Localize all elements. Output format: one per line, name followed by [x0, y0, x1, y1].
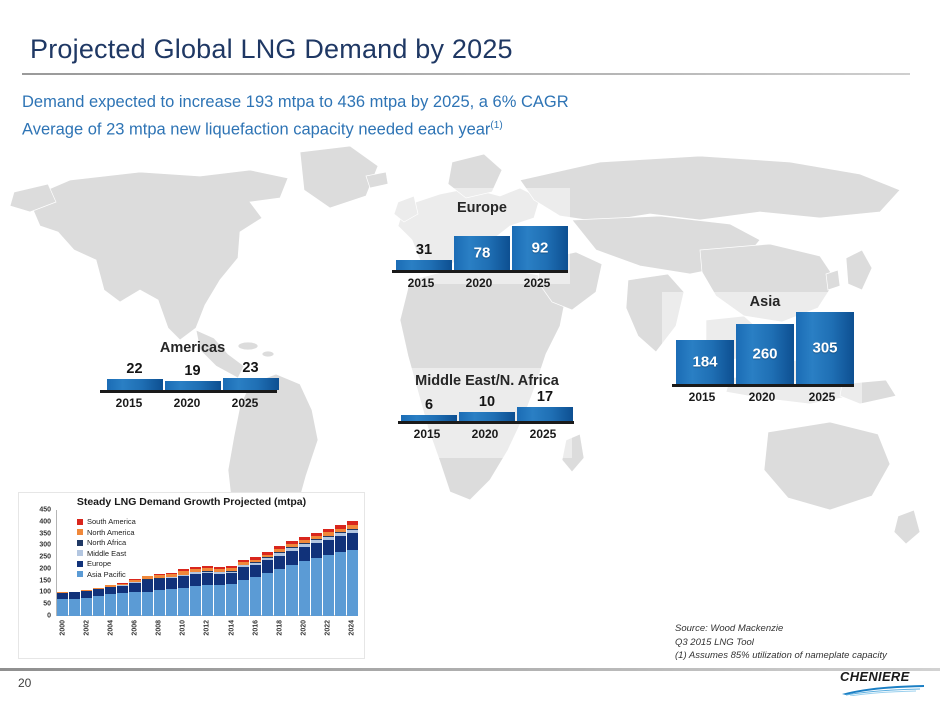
callout-asia-title: Asia	[672, 294, 858, 310]
xlabel-2025: 2025	[514, 427, 572, 441]
bar-value-2020: 19	[184, 364, 200, 379]
chart-bar-segment	[250, 565, 261, 577]
callout-menafrica-title: Middle East/N. Africa	[398, 373, 576, 389]
bar-menafrica-2020	[459, 412, 515, 421]
chart-bar	[311, 510, 322, 616]
bar-value-2025: 305	[796, 340, 854, 357]
chart-bar-segment	[154, 590, 165, 616]
chart-bar	[323, 510, 334, 616]
chart-bar-segment	[93, 596, 104, 616]
chart-y-tick: 100	[21, 589, 51, 596]
chart-x-tick: 2020	[299, 618, 310, 658]
chart-x-tick	[190, 618, 201, 658]
bar-asia-2020: 260	[736, 324, 794, 384]
chart-x-tick-label: 2018	[276, 620, 283, 636]
bar-group-2025: 92	[511, 226, 569, 270]
bar-value-2015: 184	[676, 354, 734, 371]
chart-bar	[286, 510, 297, 616]
chart-x-tick	[311, 618, 322, 658]
chart-legend-label: Asia Pacific	[87, 570, 126, 579]
chart-x-tick: 2008	[154, 618, 165, 658]
map-korea	[826, 270, 840, 290]
bar-group-2020: 260	[735, 324, 795, 384]
chart-y-tick: 400	[21, 518, 51, 525]
chart-y-axis: 050100150200250300350400450	[19, 510, 55, 616]
chart-bar-segment	[105, 587, 116, 594]
chart-bar-segment	[142, 592, 153, 616]
chart-bar-segment	[202, 585, 213, 616]
chart-bar	[202, 510, 213, 616]
bar-asia-2015: 184	[676, 340, 734, 384]
chart-bar-segment	[311, 558, 322, 616]
chart-y-tick: 350	[21, 530, 51, 537]
chart-bar-segment	[129, 592, 140, 616]
bar-group-2020: 19	[164, 364, 222, 390]
chart-bar-segment	[238, 567, 249, 580]
subtitle-line-1: Demand expected to increase 193 mtpa to …	[22, 90, 782, 114]
chart-x-tick: 2002	[81, 618, 92, 658]
cheniere-wave-icon	[840, 685, 926, 696]
chart-x-tick: 2014	[226, 618, 237, 658]
chart-x-labels: 2000200220042006200820102012201420162018…	[57, 618, 358, 658]
chart-x-tick	[93, 618, 104, 658]
callout-americas-title: Americas	[100, 340, 285, 356]
chart-bar-segment	[190, 586, 201, 616]
bar-americas-2015	[107, 379, 163, 390]
page-number: 20	[18, 676, 31, 690]
chart-bar	[178, 510, 189, 616]
chart-y-tick: 150	[21, 577, 51, 584]
stacked-bar-chart: Steady LNG Demand Growth Projected (mtpa…	[18, 492, 365, 659]
chart-legend-swatch	[77, 519, 83, 525]
map-australia	[764, 422, 890, 510]
chart-x-tick	[238, 618, 249, 658]
chart-bar-segment	[335, 536, 346, 552]
callout-americas-bars: 22 19 23	[100, 358, 285, 390]
chart-bar	[274, 510, 285, 616]
chart-bar	[166, 510, 177, 616]
bar-value-2015: 31	[416, 243, 432, 258]
bar-value-2020: 10	[479, 395, 495, 410]
chart-bar-segment	[323, 555, 334, 616]
chart-bar-segment	[274, 556, 285, 569]
callout-menafrica-xlabels: 2015 2020 2025	[398, 424, 576, 441]
chart-x-tick: 2024	[347, 618, 358, 658]
chart-x-tick: 2000	[57, 618, 68, 658]
chart-legend-item: Europe	[77, 559, 136, 568]
chart-y-tick: 50	[21, 601, 51, 608]
bar-group-2025: 23	[222, 361, 280, 390]
chart-x-tick-label: 2016	[252, 620, 259, 636]
chart-bar-segment	[311, 543, 322, 558]
bar-menafrica-2015	[401, 415, 457, 421]
bar-group-2015: 31	[395, 243, 453, 270]
bar-menafrica-2025	[517, 407, 573, 421]
chart-bar	[299, 510, 310, 616]
chart-x-tick	[214, 618, 225, 658]
map-russia	[520, 156, 900, 222]
chart-x-tick-label: 2004	[107, 620, 114, 636]
chart-bar-segment	[166, 589, 177, 616]
bar-value-2020: 78	[454, 245, 510, 262]
chart-bar-segment	[93, 589, 104, 596]
callout-europe: Europe 31 78 92 2015 2020 2025	[392, 200, 572, 290]
chart-bar	[142, 510, 153, 616]
chart-bar	[154, 510, 165, 616]
chart-x-tick	[262, 618, 273, 658]
chart-bar-segment	[190, 574, 201, 586]
footer-divider	[0, 668, 940, 671]
chart-bar-segment	[347, 550, 358, 616]
map-north-america	[28, 170, 288, 340]
source-line-1: Source: Wood Mackenzie	[675, 622, 887, 636]
chart-bar-segment	[286, 565, 297, 616]
xlabel-2015: 2015	[398, 427, 456, 441]
xlabel-2020: 2020	[158, 396, 216, 410]
chart-bar	[214, 510, 225, 616]
bar-value-2015: 6	[425, 398, 433, 413]
slide: Projected Global LNG Demand by 2025 Dema…	[0, 0, 940, 705]
callout-asia-bars: 184 260 305	[672, 312, 858, 384]
subtitle-line-2: Average of 23 mtpa new liquefaction capa…	[22, 114, 782, 142]
chart-bar-segment	[299, 561, 310, 616]
chart-title: Steady LNG Demand Growth Projected (mtpa…	[19, 496, 364, 508]
bar-group-2020: 78	[453, 236, 511, 270]
chart-y-tick: 450	[21, 507, 51, 514]
callout-europe-xlabels: 2015 2020 2025	[392, 273, 572, 290]
chart-legend-swatch	[77, 561, 83, 567]
chart-legend-swatch	[77, 571, 83, 577]
bar-group-2025: 17	[516, 390, 574, 421]
chart-x-tick	[286, 618, 297, 658]
chart-legend-item: Asia Pacific	[77, 570, 136, 579]
chart-bar-segment	[335, 552, 346, 616]
bar-europe-2015	[396, 260, 452, 270]
bar-group-2015: 6	[400, 398, 458, 421]
chart-bar	[262, 510, 273, 616]
chart-bar-segment	[286, 551, 297, 565]
callout-menafrica-bars: 6 10 17	[398, 391, 576, 421]
chart-bar-segment	[105, 594, 116, 616]
cheniere-logo-text: CHENIERE	[840, 670, 926, 683]
chart-bar-segment	[154, 579, 165, 589]
chart-bar-segment	[202, 573, 213, 585]
chart-bar-segment	[81, 598, 92, 616]
chart-bar-segment	[226, 573, 237, 583]
bar-group-2025: 305	[795, 312, 855, 384]
chart-bar	[190, 510, 201, 616]
chart-bar-segment	[178, 576, 189, 588]
chart-legend-item: South America	[77, 517, 136, 526]
chart-bar	[347, 510, 358, 616]
xlabel-2020: 2020	[456, 427, 514, 441]
chart-x-tick-label: 2000	[59, 620, 66, 636]
chart-x-tick	[117, 618, 128, 658]
bar-value-2025: 92	[512, 240, 568, 257]
chart-x-tick: 2016	[250, 618, 261, 658]
bar-group-2015: 184	[675, 340, 735, 384]
bar-europe-2025: 92	[512, 226, 568, 270]
chart-bar-segment	[57, 599, 68, 616]
bar-americas-2025	[223, 378, 279, 390]
subtitle-block: Demand expected to increase 193 mtpa to …	[22, 90, 782, 142]
chart-bar-segment	[250, 577, 261, 616]
chart-x-tick-label: 2012	[204, 620, 211, 636]
chart-bar-segment	[226, 584, 237, 617]
chart-bar-segment	[81, 591, 92, 598]
chart-bar	[57, 510, 68, 616]
callout-middle-east-n-africa: Middle East/N. Africa 6 10 17 2015 2020 …	[398, 373, 576, 441]
chart-bar-segment	[347, 533, 358, 549]
bar-asia-2025: 305	[796, 312, 854, 384]
chart-x-tick-label: 2002	[83, 620, 90, 636]
chart-legend-swatch	[77, 540, 83, 546]
chart-x-tick-label: 2020	[301, 620, 308, 636]
chart-y-tick: 200	[21, 565, 51, 572]
chart-bar	[250, 510, 261, 616]
chart-legend-label: North Africa	[87, 538, 126, 547]
bar-value-2025: 17	[537, 390, 553, 405]
chart-legend-swatch	[77, 529, 83, 535]
callout-asia-xlabels: 2015 2020 2025	[672, 387, 858, 404]
chart-x-tick: 2010	[178, 618, 189, 658]
chart-x-tick	[69, 618, 80, 658]
bar-americas-2020	[165, 381, 221, 390]
xlabel-2015: 2015	[672, 390, 732, 404]
chart-x-tick-label: 2006	[132, 620, 139, 636]
chart-x-tick-label: 2008	[156, 620, 163, 636]
xlabel-2020: 2020	[732, 390, 792, 404]
source-line-2: Q3 2015 LNG Tool	[675, 636, 887, 650]
chart-legend-label: Europe	[87, 559, 111, 568]
chart-bar-segment	[166, 578, 177, 589]
chart-bar-segment	[129, 583, 140, 593]
title-divider	[22, 73, 910, 75]
chart-bar-segment	[323, 540, 334, 556]
xlabel-2025: 2025	[508, 276, 566, 290]
subtitle-footnote-marker: (1)	[490, 120, 502, 131]
callout-europe-title: Europe	[392, 200, 572, 216]
chart-bar-segment	[299, 547, 310, 562]
chart-legend: South AmericaNorth AmericaNorth AfricaMi…	[77, 517, 136, 580]
chart-bar-segment	[274, 569, 285, 616]
chart-bar-segment	[262, 560, 273, 572]
chart-x-tick: 2012	[202, 618, 213, 658]
chart-x-tick	[335, 618, 346, 658]
chart-x-tick	[142, 618, 153, 658]
bar-group-2015: 22	[106, 362, 164, 390]
bar-europe-2020: 78	[454, 236, 510, 270]
chart-bar-segment	[117, 593, 128, 616]
chart-legend-item: Middle East	[77, 549, 136, 558]
chart-x-tick	[166, 618, 177, 658]
chart-y-tick: 300	[21, 542, 51, 549]
chart-x-tick-label: 2022	[325, 620, 332, 636]
subtitle-line-2-text: Average of 23 mtpa new liquefaction capa…	[22, 121, 490, 139]
chart-bar-segment	[262, 573, 273, 616]
chart-bar	[226, 510, 237, 616]
bar-value-2025: 23	[242, 361, 258, 376]
chart-x-tick: 2004	[105, 618, 116, 658]
chart-y-tick: 250	[21, 554, 51, 561]
chart-legend-label: South America	[87, 517, 136, 526]
chart-bar	[335, 510, 346, 616]
xlabel-2015: 2015	[392, 276, 450, 290]
xlabel-2015: 2015	[100, 396, 158, 410]
chart-bar-segment	[178, 588, 189, 616]
chart-legend-item: North America	[77, 528, 136, 537]
cheniere-logo: CHENIERE	[840, 670, 926, 696]
page-title: Projected Global LNG Demand by 2025	[30, 34, 513, 65]
chart-x-tick: 2018	[274, 618, 285, 658]
chart-bar-segment	[69, 599, 80, 616]
map-new-zealand	[894, 510, 920, 544]
map-japan	[846, 250, 872, 290]
chart-x-tick-label: 2014	[228, 620, 235, 636]
xlabel-2020: 2020	[450, 276, 508, 290]
source-line-3: (1) Assumes 85% utilization of nameplate…	[675, 649, 887, 663]
callout-asia: Asia 184 260 305 2015 2020 2025	[672, 294, 858, 404]
chart-legend-label: North America	[87, 528, 135, 537]
source-note: Source: Wood Mackenzie Q3 2015 LNG Tool …	[675, 622, 887, 663]
chart-legend-item: North Africa	[77, 538, 136, 547]
chart-y-tick: 0	[21, 613, 51, 620]
bar-value-2020: 260	[736, 346, 794, 363]
bar-value-2015: 22	[126, 362, 142, 377]
bar-group-2020: 10	[458, 395, 516, 421]
chart-bar-segment	[214, 585, 225, 616]
xlabel-2025: 2025	[792, 390, 852, 404]
chart-bar-segment	[142, 580, 153, 591]
chart-bar	[238, 510, 249, 616]
callout-europe-bars: 31 78 92	[392, 218, 572, 270]
chart-x-tick-label: 2024	[349, 620, 356, 636]
chart-legend-swatch	[77, 550, 83, 556]
chart-legend-label: Middle East	[87, 549, 126, 558]
chart-x-tick-label: 2010	[180, 620, 187, 636]
chart-bar-segment	[214, 574, 225, 585]
chart-bar-segment	[117, 586, 128, 594]
chart-x-tick: 2022	[323, 618, 334, 658]
callout-americas-xlabels: 2015 2020 2025	[100, 393, 285, 410]
xlabel-2025: 2025	[216, 396, 274, 410]
callout-americas: Americas 22 19 23 2015 2020 2025	[100, 340, 285, 410]
chart-bar-segment	[238, 580, 249, 616]
chart-x-tick: 2006	[129, 618, 140, 658]
